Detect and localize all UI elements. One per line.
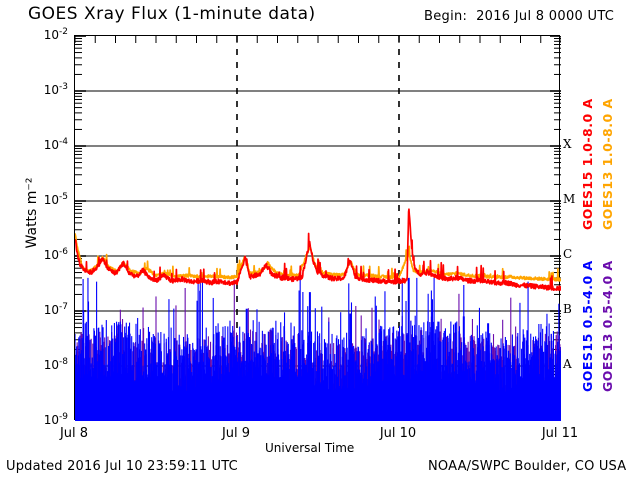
flare-class-B: B: [563, 302, 572, 316]
y-tick-label: 10-3: [22, 82, 68, 97]
y-tick-label: 10-9: [22, 412, 68, 427]
y-tick-label: 10-6: [22, 247, 68, 262]
plot-area: [74, 35, 560, 420]
chart-page: GOES Xray Flux (1-minute data) Begin: 20…: [0, 0, 640, 480]
y-tick-label: 10-4: [22, 137, 68, 152]
legend-goes15-long: GOES15 1.0-8.0 A: [580, 100, 595, 230]
flux-plot-svg: [75, 36, 561, 421]
x-tick-label: Jul 9: [201, 426, 271, 441]
source-credit: NOAA/SWPC Boulder, CO USA: [428, 459, 626, 474]
x-tick-label: Jul 11: [525, 426, 595, 441]
flare-class-M: M: [563, 192, 575, 206]
y-tick-label: 10-5: [22, 192, 68, 207]
plot-canvas: [75, 36, 559, 419]
y-tick-label: 10-8: [22, 357, 68, 372]
legend-goes13-short: GOES13 0.5-4.0 A: [600, 262, 615, 392]
legend-goes15-short: GOES15 0.5-4.0 A: [580, 262, 595, 392]
flare-class-X: X: [563, 137, 572, 151]
y-tick-label: 10-7: [22, 302, 68, 317]
flare-class-C: C: [563, 247, 572, 261]
flare-class-A: A: [563, 357, 572, 371]
x-tick-label: Jul 10: [363, 426, 433, 441]
updated-timestamp: Updated 2016 Jul 10 23:59:11 UTC: [6, 459, 238, 474]
begin-time-label: Begin: 2016 Jul 8 0000 UTC: [424, 9, 614, 24]
page-title: GOES Xray Flux (1-minute data): [28, 4, 316, 24]
x-tick-label: Jul 8: [39, 426, 109, 441]
x-axis-label: Universal Time: [265, 441, 354, 455]
legend-goes13-long: GOES13 1.0-8.0 A: [600, 100, 615, 230]
y-tick-label: 10-2: [22, 27, 68, 42]
trace-goes15-long: [75, 209, 561, 290]
